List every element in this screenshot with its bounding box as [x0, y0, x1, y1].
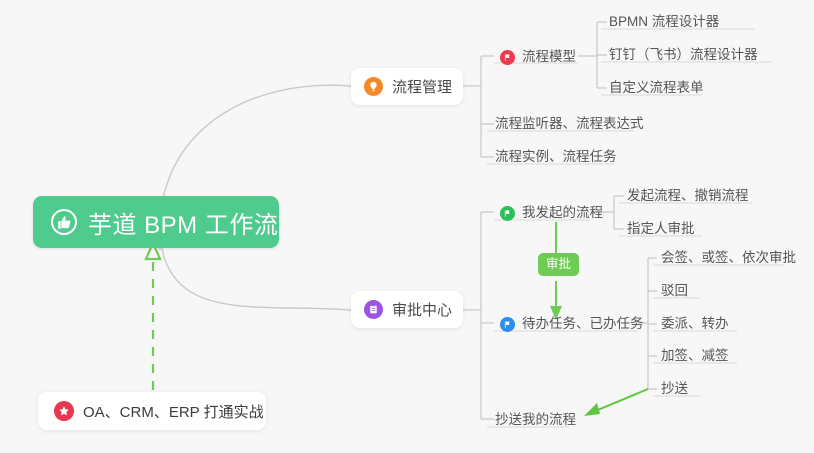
leaf-node-cc[interactable]: 抄送	[655, 378, 694, 402]
leaf-label-process-listener-expression: 流程监听器、流程表达式	[495, 116, 644, 131]
leaf-label-add-remove-sign: 加签、减签	[661, 348, 729, 363]
leaf-node-dingtalk-feishu-designer[interactable]: 钉钉（飞书）流程设计器	[603, 44, 764, 68]
footer-node-integration-practice[interactable]: OA、CRM、ERP 打通实战	[38, 392, 266, 430]
leaf-node-process-model[interactable]: 流程模型	[494, 46, 582, 70]
leaf-label-bpmn-designer: BPMN 流程设计器	[609, 14, 719, 29]
annotation-badge-approve-label: 审批	[546, 257, 571, 271]
leaf-label-cc: 抄送	[661, 381, 688, 396]
footer-node-label: OA、CRM、ERP 打通实战	[83, 401, 264, 422]
branch-label-approval-center: 审批中心	[392, 299, 452, 320]
clipboard-icon	[364, 300, 383, 319]
thumbs-up-icon	[51, 209, 77, 235]
leaf-node-start-cancel-process[interactable]: 发起流程、撤销流程	[621, 185, 755, 209]
leaf-label-delegate-transfer: 委派、转办	[661, 316, 729, 331]
leaf-label-start-cancel-process: 发起流程、撤销流程	[627, 188, 749, 203]
lightbulb-icon	[364, 77, 383, 96]
annotation-badge-approve: 审批	[538, 253, 579, 276]
star-icon	[54, 401, 74, 421]
leaf-node-delegate-transfer[interactable]: 委派、转办	[655, 313, 735, 337]
leaf-node-process-listener-expression[interactable]: 流程监听器、流程表达式	[489, 113, 650, 137]
leaf-node-assignee-approval[interactable]: 指定人审批	[621, 218, 701, 242]
branch-node-process-management[interactable]: 流程管理	[351, 68, 463, 105]
flag-icon	[500, 317, 515, 332]
leaf-node-custom-process-form[interactable]: 自定义流程表单	[603, 77, 710, 101]
leaf-node-countersign-or-sign-sequential[interactable]: 会签、或签、依次审批	[655, 247, 802, 271]
root-label: 芋道 BPM 工作流	[88, 205, 278, 240]
leaf-label-countersign-or-sign-sequential: 会签、或签、依次审批	[661, 250, 796, 265]
mindmap-canvas: 芋道 BPM 工作流 流程管理 审批中心	[0, 0, 814, 453]
leaf-node-process-instance-task[interactable]: 流程实例、流程任务	[489, 146, 623, 170]
leaf-label-dingtalk-feishu-designer: 钉钉（飞书）流程设计器	[609, 47, 758, 62]
leaf-label-assignee-approval: 指定人审批	[627, 221, 695, 236]
leaf-label-process-instance-task: 流程实例、流程任务	[495, 149, 617, 164]
leaf-node-reject[interactable]: 驳回	[655, 280, 694, 304]
leaf-node-todo-done-tasks[interactable]: 待办任务、已办任务	[494, 313, 650, 337]
leaf-node-my-initiated-process[interactable]: 我发起的流程	[494, 202, 609, 226]
branch-label-process-management: 流程管理	[392, 76, 452, 97]
leaf-label-process-model: 流程模型	[522, 49, 576, 65]
leaf-node-add-remove-sign[interactable]: 加签、减签	[655, 345, 735, 369]
leaf-node-cc-to-me-process[interactable]: 抄送我的流程	[489, 409, 582, 433]
leaf-label-todo-done-tasks: 待办任务、已办任务	[522, 316, 644, 332]
leaf-label-custom-process-form: 自定义流程表单	[609, 80, 704, 95]
leaf-label-reject: 驳回	[661, 283, 688, 298]
leaf-node-bpmn-designer[interactable]: BPMN 流程设计器	[603, 11, 725, 35]
leaf-label-my-initiated-process: 我发起的流程	[522, 205, 603, 221]
flag-icon	[500, 50, 515, 65]
leaf-label-cc-to-me-process: 抄送我的流程	[495, 412, 576, 427]
branch-node-approval-center[interactable]: 审批中心	[351, 291, 463, 328]
flag-icon	[500, 206, 515, 221]
root-node[interactable]: 芋道 BPM 工作流	[33, 196, 279, 248]
